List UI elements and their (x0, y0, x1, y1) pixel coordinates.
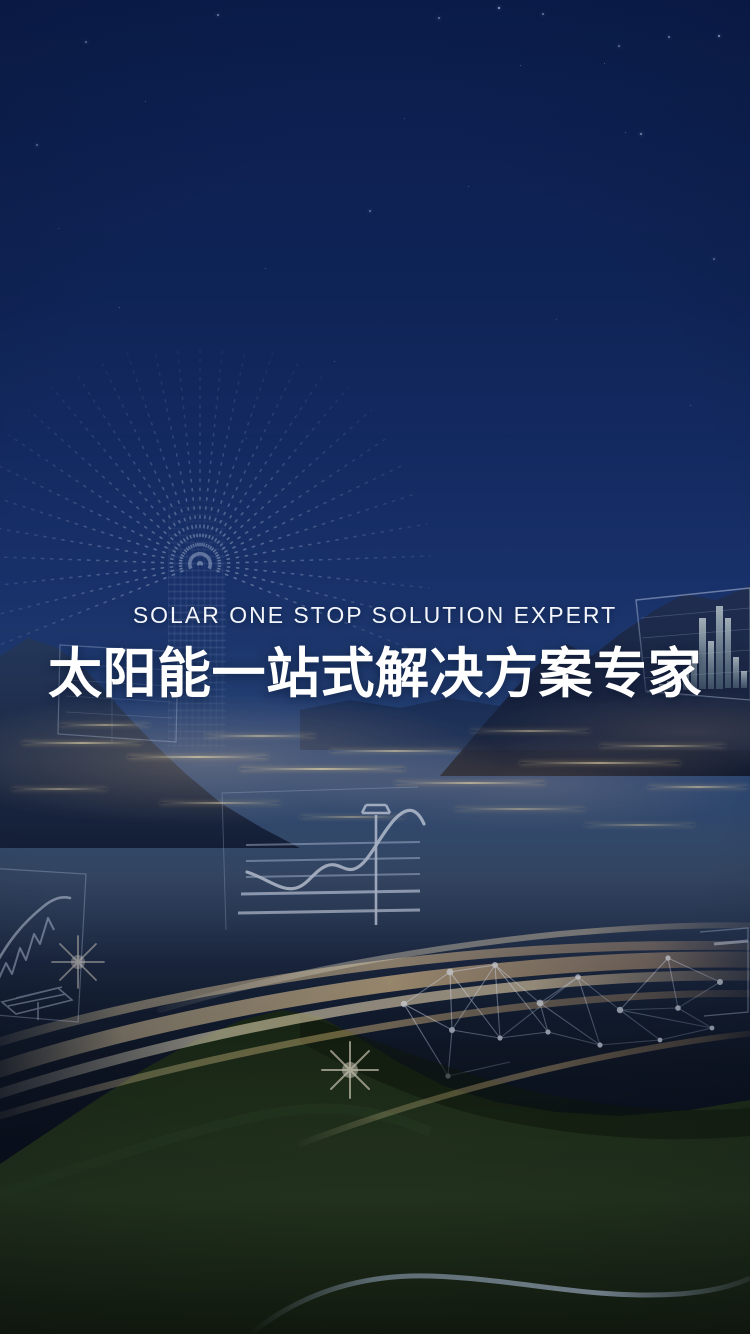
night-sky-background (0, 0, 750, 1334)
hero-banner: SOLAR ONE STOP SOLUTION EXPERT 太阳能一站式解决方… (0, 0, 750, 1334)
